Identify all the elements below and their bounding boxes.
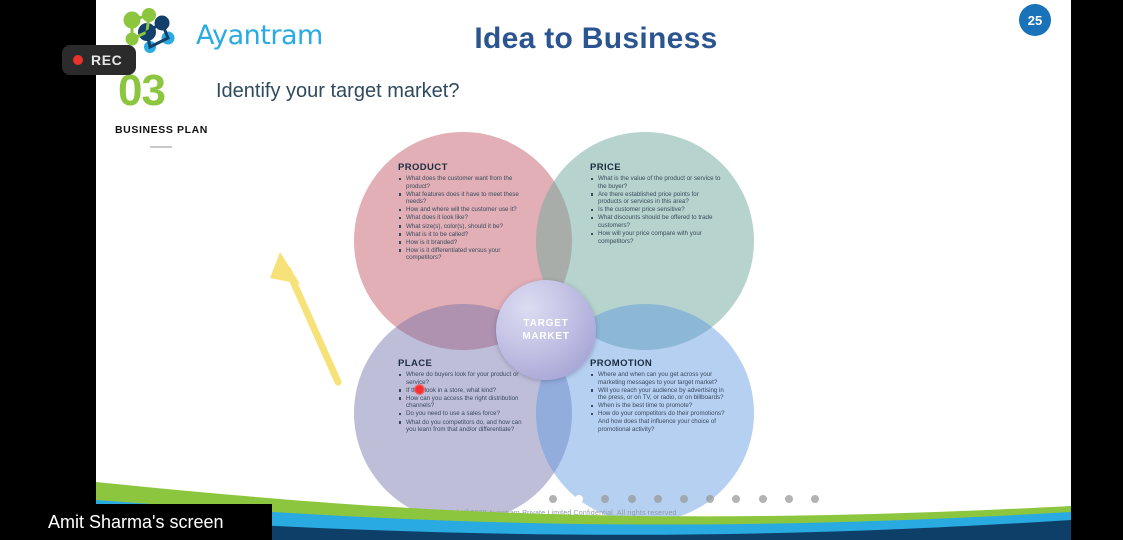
venn-title-product: PRODUCT <box>398 162 523 173</box>
venn-list-price: What is the value of the product or serv… <box>590 175 722 245</box>
ayantram-logo: Ayantram <box>112 6 302 56</box>
cursor-click-highlight <box>414 384 425 395</box>
page-number-badge: 25 <box>1019 4 1051 36</box>
venn-list-item: Will you reach your audience by advertis… <box>590 387 730 402</box>
venn-title-place: PLACE <box>398 358 523 369</box>
venn-list-item: How do your competitors do their promoti… <box>590 410 730 433</box>
venn-center-target-market: TARGET MARKET <box>496 280 596 380</box>
venn-list-item: Are there established price points for p… <box>590 191 722 206</box>
venn-list-item: Is the customer price sensitive? <box>590 206 722 214</box>
left-letterbox <box>0 0 96 540</box>
venn-list-item: What is it to be called? <box>398 231 523 239</box>
venn-block-place: PLACE Where do buyers look for your prod… <box>398 358 523 434</box>
presentation-slide: Ayantram Idea to Business 03 Identify yo… <box>96 0 1071 540</box>
venn-list-item: What does it look like? <box>398 214 523 222</box>
venn-list-item: What does the customer want from the pro… <box>398 175 523 190</box>
venn-list-item: What features does it have to meet these… <box>398 191 523 206</box>
slide-title: Idea to Business <box>346 22 846 56</box>
slide-subheading: Identify your target market? <box>216 80 459 103</box>
venn-list-item: Do you need to use a sales force? <box>398 410 523 418</box>
center-line-1: TARGET <box>523 317 568 330</box>
venn-list-item: What discounts should be offered to trad… <box>590 214 722 229</box>
venn-list-promotion: Where and when can you get across your m… <box>590 371 730 433</box>
venn-title-price: PRICE <box>590 162 722 173</box>
brand-wordmark: Ayantram <box>196 20 323 51</box>
section-label: BUSINESS PLAN <box>115 124 208 136</box>
screen-share-label: Amit Sharma's screen <box>0 512 224 533</box>
venn-list-item: How is it branded? <box>398 239 523 247</box>
recording-label: REC <box>91 52 122 68</box>
venn-list-item: Where and when can you get across your m… <box>590 371 730 386</box>
target-market-venn-diagram: PRODUCT What does the customer want from… <box>354 120 754 510</box>
venn-list-item: How and where will the customer use it? <box>398 206 523 214</box>
venn-list-item: When is the best time to promote? <box>590 402 730 410</box>
venn-title-promotion: PROMOTION <box>590 358 730 369</box>
venn-list-item: What do you competitors do, and how can … <box>398 419 523 434</box>
venn-list-item: What size(s), color(s), should it be? <box>398 223 523 231</box>
recording-indicator: REC <box>62 45 136 75</box>
right-letterbox <box>1071 0 1123 540</box>
venn-block-price: PRICE What is the value of the product o… <box>590 162 722 246</box>
venn-block-promotion: PROMOTION Where and when can you get acr… <box>590 358 730 434</box>
screen-share-bar: Amit Sharma's screen <box>0 504 272 540</box>
venn-list-place: Where do buyers look for your product or… <box>398 371 523 434</box>
center-line-2: MARKET <box>522 330 570 343</box>
venn-list-item: How will your price compare with your co… <box>590 230 722 245</box>
venn-list-item: How is it differentiated versus your com… <box>398 247 523 262</box>
record-dot-icon <box>73 55 83 65</box>
venn-list-product: What does the customer want from the pro… <box>398 175 523 262</box>
venn-list-item: How can you access the right distributio… <box>398 395 523 410</box>
venn-block-product: PRODUCT What does the customer want from… <box>398 162 523 263</box>
section-underline <box>150 146 172 148</box>
venn-list-item: What is the value of the product or serv… <box>590 175 722 190</box>
screen-share-view: Ayantram Idea to Business 03 Identify yo… <box>0 0 1123 540</box>
